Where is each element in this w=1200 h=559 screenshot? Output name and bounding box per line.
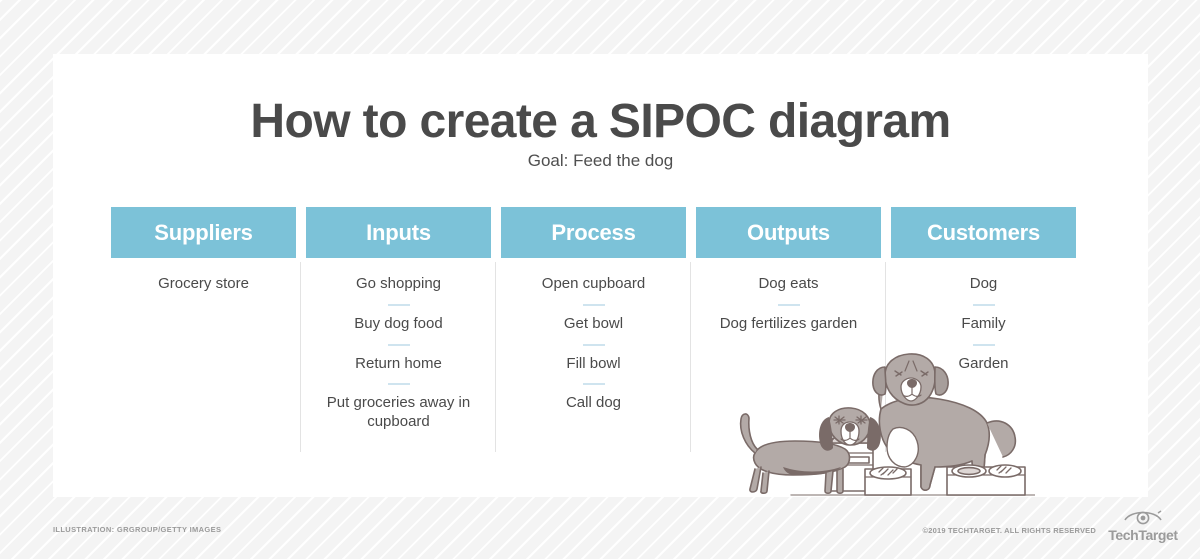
list-item: Call dog — [501, 394, 686, 413]
item-separator-dash — [583, 344, 605, 346]
item-separator-dash — [778, 304, 800, 306]
infographic-card: How to create a SIPOC diagram Goal: Feed… — [53, 54, 1148, 497]
item-separator-dash — [583, 304, 605, 306]
column-body-customers: Dog Family Garden — [891, 258, 1076, 373]
techtarget-logo: TechTarget — [1104, 507, 1182, 545]
column-body-inputs: Go shopping Buy dog food Return home Put… — [306, 258, 491, 432]
column-divider — [885, 262, 886, 452]
column-divider — [300, 262, 301, 452]
list-item: Return home — [306, 355, 491, 374]
column-header-suppliers: Suppliers — [111, 207, 296, 258]
techtarget-wordmark: TechTarget — [1104, 527, 1182, 543]
list-item: Put groceries away in cupboard — [306, 394, 491, 432]
sipoc-column-inputs: Inputs Go shopping Buy dog food Return h… — [306, 207, 491, 432]
column-divider — [690, 262, 691, 452]
column-body-outputs: Dog eats Dog fertilizes garden — [696, 258, 881, 334]
item-separator-dash — [388, 304, 410, 306]
list-item: Get bowl — [501, 315, 686, 334]
illustration-credit: ILLUSTRATION: GRGROUP/GETTY IMAGES — [53, 525, 221, 534]
column-divider — [495, 262, 496, 452]
column-body-process: Open cupboard Get bowl Fill bowl Call do… — [501, 258, 686, 413]
list-item: Open cupboard — [501, 275, 686, 294]
eye-icon — [1124, 507, 1162, 526]
item-separator-dash — [388, 344, 410, 346]
copyright-notice: ©2019 TECHTARGET. ALL RIGHTS RESERVED — [922, 526, 1096, 535]
list-item: Fill bowl — [501, 355, 686, 374]
list-item: Garden — [891, 355, 1076, 374]
list-item: Family — [891, 315, 1076, 334]
sipoc-grid: Suppliers Grocery store Inputs Go shoppi… — [111, 207, 1088, 432]
item-separator-dash — [973, 344, 995, 346]
list-item: Grocery store — [111, 275, 296, 294]
list-item: Dog fertilizes garden — [696, 315, 881, 334]
column-header-outputs: Outputs — [696, 207, 881, 258]
column-header-inputs: Inputs — [306, 207, 491, 258]
item-separator-dash — [388, 383, 410, 385]
list-item: Go shopping — [306, 275, 491, 294]
sipoc-column-customers: Customers Dog Family Garden — [891, 207, 1076, 432]
goal-subtitle: Goal: Feed the dog — [53, 151, 1148, 171]
page-title: How to create a SIPOC diagram — [53, 94, 1148, 149]
column-header-customers: Customers — [891, 207, 1076, 258]
list-item: Dog — [891, 275, 1076, 294]
sipoc-column-outputs: Outputs Dog eats Dog fertilizes garden — [696, 207, 881, 432]
item-separator-dash — [583, 383, 605, 385]
column-header-process: Process — [501, 207, 686, 258]
item-separator-dash — [973, 304, 995, 306]
list-item: Dog eats — [696, 275, 881, 294]
list-item: Buy dog food — [306, 315, 491, 334]
column-body-suppliers: Grocery store — [111, 258, 296, 294]
sipoc-column-suppliers: Suppliers Grocery store — [111, 207, 296, 432]
sipoc-column-process: Process Open cupboard Get bowl Fill bowl… — [501, 207, 686, 432]
